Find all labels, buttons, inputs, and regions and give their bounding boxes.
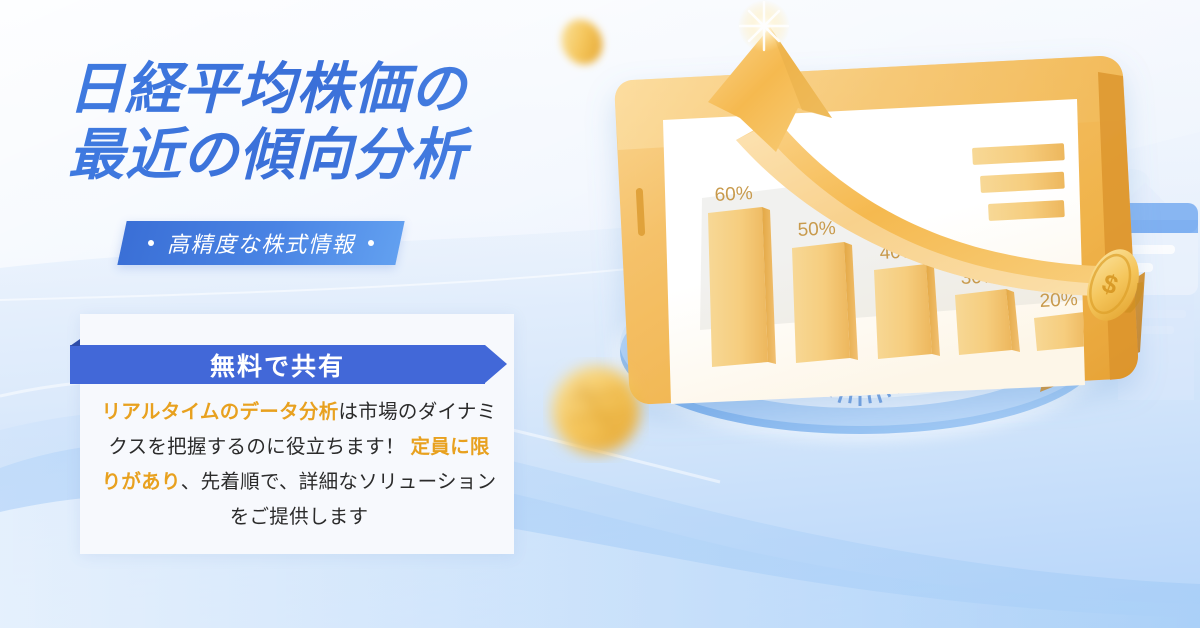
chart-bar [955, 289, 1020, 355]
bar-label: 50% [797, 218, 836, 241]
coin-left-large [552, 366, 640, 454]
ribbon-arrow-tip [485, 345, 507, 383]
bar-label: 60% [714, 183, 753, 206]
dot-icon-left [148, 240, 154, 246]
tablet-illustration: 60% 50% 40% 30% 20% [540, 0, 1200, 628]
badge-label: 高精度な株式情報 [167, 227, 355, 259]
ribbon-banner: 無料で共有 [70, 339, 514, 384]
page-title: 日経平均株価の 最近の傾向分析 [68, 56, 588, 188]
chart-bar [874, 264, 940, 359]
card-text-plain-2: 、先着順で、詳細なソリューションをご提供します [181, 471, 497, 528]
headline-line-2: 最近の傾向分析 [68, 122, 588, 188]
poster-canvas: 60% 50% 40% 30% 20% [0, 0, 1200, 628]
ribbon-label: 無料で共有 [70, 345, 485, 384]
card-text-highlight-1: リアルタイムのデータ分析 [101, 401, 338, 423]
headline-line-1: 日経平均株価の [68, 56, 588, 122]
chart-bar [792, 242, 858, 363]
chart-bar [708, 207, 776, 367]
card-body-text: リアルタイムのデータ分析は市場のダイナミクスを把握するのに役立ちます！ 定員に限… [100, 395, 498, 535]
dot-icon-right [368, 240, 374, 246]
subtitle-badge: 高精度な株式情報 [122, 221, 400, 265]
